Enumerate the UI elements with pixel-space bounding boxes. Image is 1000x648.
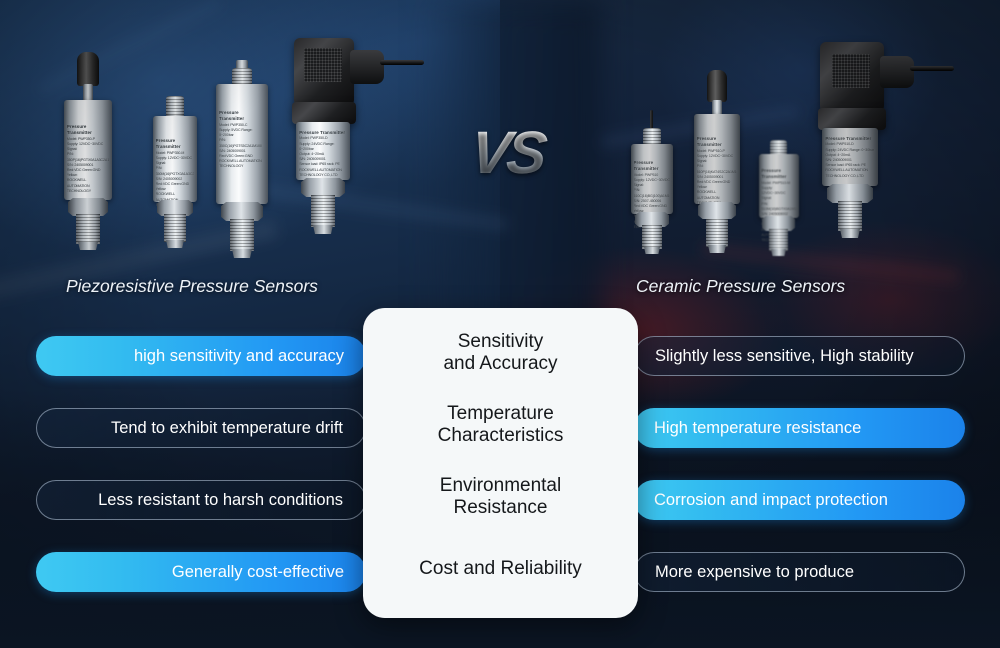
right-pill-row-4-label: More expensive to produce <box>655 563 854 582</box>
right-pill-row-1-label: Slightly less sensitive, High stability <box>655 347 914 366</box>
left-pill-row-4-label: Generally cost-effective <box>172 563 344 582</box>
caption-ceramic: Ceramic Pressure Sensors <box>636 276 845 297</box>
right-pill-row-1[interactable]: Slightly less sensitive, High stability <box>634 336 965 376</box>
left-pill-row-1-label: high sensitivity and accuracy <box>134 347 344 366</box>
right-pill-row-2[interactable]: High temperature resistance <box>634 408 965 448</box>
right-pill-row-3[interactable]: Corrosion and impact protection <box>634 480 965 520</box>
left-pill-row-3[interactable]: Less resistant to harsh conditions <box>36 480 366 520</box>
left-pill-row-4[interactable]: Generally cost-effective <box>36 552 366 592</box>
caption-piezoresistive: Piezoresistive Pressure Sensors <box>66 276 318 297</box>
category-label-2: TemperatureCharacteristics <box>373 389 628 461</box>
left-pill-row-2-label: Tend to exhibit temperature drift <box>111 419 343 438</box>
category-label-4: Cost and Reliability <box>373 533 628 605</box>
right-pill-row-3-label: Corrosion and impact protection <box>654 491 888 510</box>
comparison-infographic: Pressure Transmitter Model: PWP350-P Sup… <box>0 0 1000 648</box>
left-pill-row-3-label: Less resistant to harsh conditions <box>98 491 343 510</box>
category-label-3: EnvironmentalResistance <box>373 461 628 533</box>
right-pill-row-2-label: High temperature resistance <box>654 419 861 438</box>
left-pill-row-2[interactable]: Tend to exhibit temperature drift <box>36 408 366 448</box>
right-pill-row-4[interactable]: More expensive to produce <box>634 552 965 592</box>
comparison-category-card: Sensitivityand Accuracy TemperatureChara… <box>363 308 638 618</box>
category-label-1: Sensitivityand Accuracy <box>373 317 628 389</box>
vs-badge: VS <box>448 118 565 186</box>
left-pill-row-1[interactable]: high sensitivity and accuracy <box>36 336 366 376</box>
